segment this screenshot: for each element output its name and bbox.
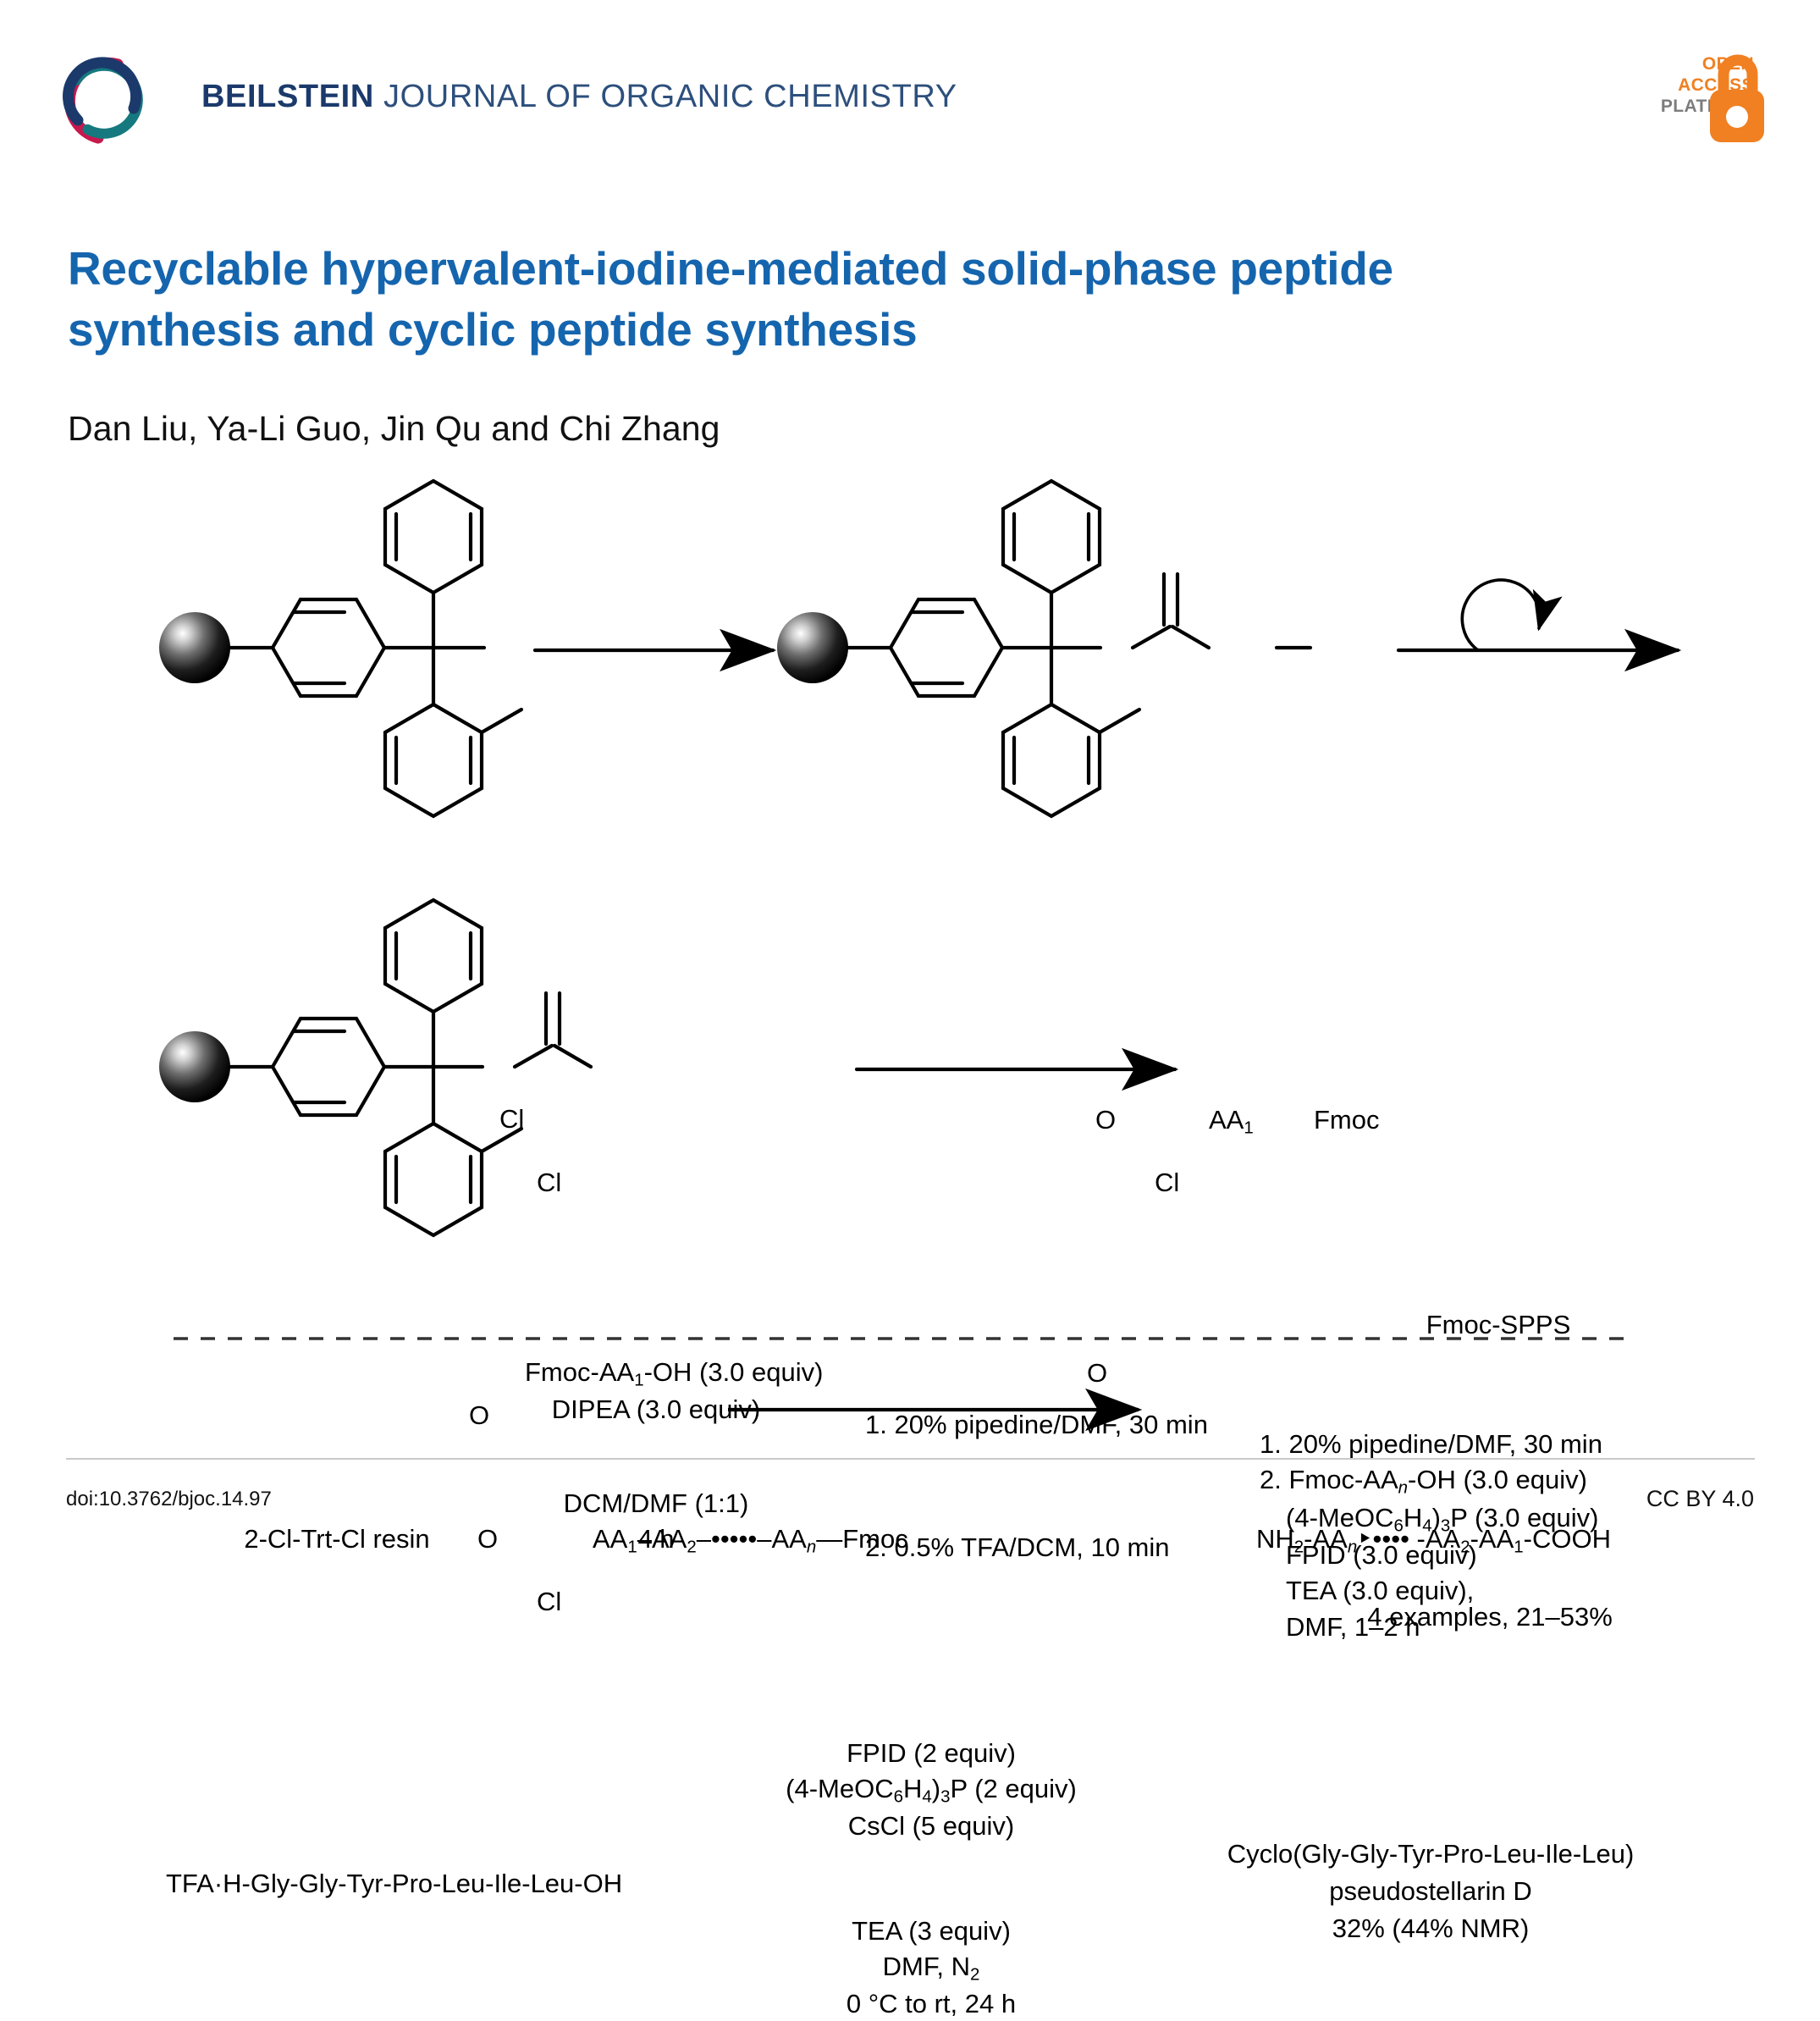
row3-cond-below-3: 0 °C to rt, 24 h [652,1986,1211,2021]
label-fmoc-spps: Fmoc-SPPS [1388,1308,1608,1342]
row3-product-yield: 32% (44% NMR) [1134,1910,1727,1947]
footer-doi[interactable]: doi:10.3762/bjoc.14.97 [66,1488,272,1511]
arrow1-cond-line2: DIPEA (3.0 equiv) [552,1394,760,1424]
reactant-caption-resin: 2-Cl-Trt-Cl resin [159,1522,515,1556]
row3-cond-above-1: FPID (2 equiv) [652,1736,1211,1771]
open-lock-icon [1707,52,1768,144]
row3-cond-below: TEA (3 equiv) DMF, N2 0 °C to rt, 24 h [652,1913,1211,2021]
label-ester-o-1: O [1095,1103,1116,1137]
arrow1-cond-line3: DCM/DMF (1:1) [564,1488,749,1518]
footer-divider [66,1458,1755,1460]
row3-product-trivial: pseudostellarin D [1134,1873,1727,1910]
peptide-chain-on-resin: AA1–AA2–•••••–AAn—Fmoc [593,1522,908,1559]
row3-reactant: TFA·H-Gly-Gly-Tyr-Pro-Leu-Ile-Leu-OH [166,1867,622,1901]
scheme-drawing [0,474,1820,1439]
row3-cond-below-1: TEA (3 equiv) [652,1913,1211,1949]
spps-cond-1: 1. 20% pipedine/DMF, 30 min [1260,1427,1602,1462]
arrow1-conditions-above: Fmoc-AA1-OH (3.0 equiv) DIPEA (3.0 equiv… [525,1355,787,1427]
label-cl-resin-ortho-1: Cl [537,1166,561,1200]
label-fmoc-product: Fmoc [1314,1103,1380,1137]
row3-cond-above-3: CsCl (5 equiv) [652,1808,1211,1844]
label-cl-ortho-2: Cl [537,1585,561,1619]
label-aa1-product: AA1 [1209,1103,1254,1140]
row3-product: Cyclo(Gly-Gly-Tyr-Pro-Leu-Ile-Leu) pseud… [1134,1836,1727,1947]
beilstein-logo-icon [52,49,152,149]
label-cl-resin-1: Cl [499,1102,524,1136]
label-cl-ortho-product-1: Cl [1155,1166,1179,1200]
reaction-scheme: Cl Cl 2-Cl-Trt-Cl resin Fmoc-AA1-OH (3.0… [0,474,1820,1439]
journal-name: BEILSTEIN JOURNAL OF ORGANIC CHEMISTRY [201,79,957,115]
row3-product-name: Cyclo(Gly-Gly-Tyr-Pro-Leu-Ile-Leu) [1134,1836,1727,1873]
journal-name-light: JOURNAL OF ORGANIC CHEMISTRY [374,79,957,114]
article-title: Recyclable hypervalent-iodine-mediated s… [68,239,1558,360]
row2-yield: 4 examples, 21–53% [1253,1600,1727,1634]
graphical-abstract-page: BEILSTEIN JOURNAL OF ORGANIC CHEMISTRY O… [0,0,1820,1583]
footer-license[interactable]: CC BY 4.0 [1646,1486,1754,1512]
row3-cond-above: FPID (2 equiv) (4-MeOC6H4)3P (2 equiv) C… [652,1736,1211,1843]
row3-cond-below-2: DMF, N2 [652,1949,1211,1986]
label-carbonyl-o-1: O [1087,1356,1107,1390]
row2-cond-above: 1. 20% pipedine/DMF, 30 min [865,1408,1208,1442]
journal-header: BEILSTEIN JOURNAL OF ORGANIC CHEMISTRY O… [0,0,1820,161]
label-ester-o-2: O [477,1522,498,1556]
journal-name-bold: BEILSTEIN [201,79,374,114]
label-carbonyl-o-2: O [469,1399,489,1433]
row2-cond-below: 2. 0.5% TFA/DCM, 10 min [865,1531,1170,1565]
arrow1-cond-line1: Fmoc-AA1-OH (3.0 equiv) [525,1357,823,1387]
row3-cond-above-2: (4-MeOC6H4)3P (2 equiv) [652,1771,1211,1808]
article-authors: Dan Liu, Ya-Li Guo, Jin Qu and Chi Zhang [68,409,720,449]
row2-product: NH2-AAn‣•••• -AA2-AA1-COOH [1256,1522,1611,1559]
spps-cond-2: 2. Fmoc-AAn-OH (3.0 equiv) [1260,1462,1602,1500]
